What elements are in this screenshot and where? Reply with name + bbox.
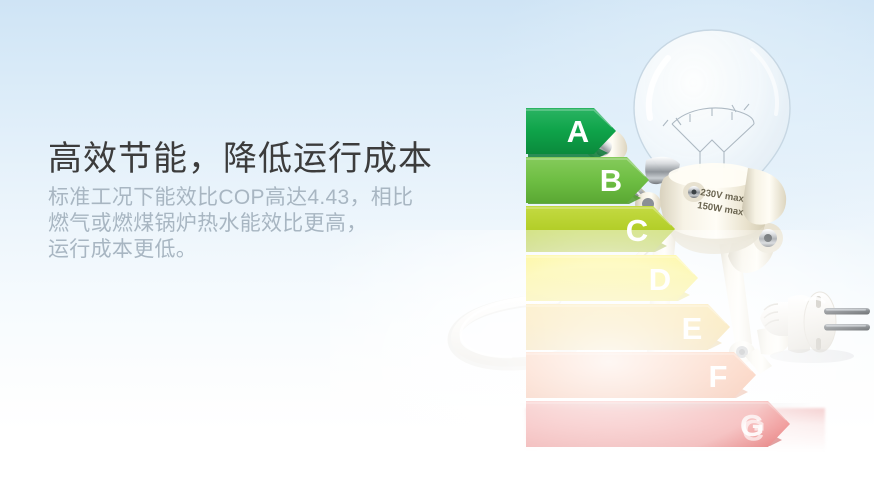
bar-contact-shadow — [520, 403, 810, 412]
lamp-arm-right — [728, 215, 783, 273]
svg-text:C: C — [626, 213, 648, 248]
background-glow-top — [480, 0, 874, 230]
svg-text:A: A — [567, 114, 589, 149]
energy-bar-B[interactable]: B — [526, 157, 649, 204]
svg-text:G: G — [740, 408, 764, 443]
page-title: 高效节能，降低运行成本 — [48, 137, 508, 181]
subcopy-line-2: 燃气或燃煤锅炉热水能效比更高， — [48, 211, 508, 237]
lamp-joint-lower — [745, 328, 791, 374]
socket-label-line2: 150W max — [697, 200, 745, 218]
energy-bar-F[interactable]: F — [526, 352, 756, 398]
energy-bar-E[interactable]: E — [526, 304, 730, 350]
subcopy-line-3: 运行成本更低。 — [48, 237, 508, 263]
reflection-letter-g: G — [742, 412, 765, 446]
lamp-socket: 230V max 150W max — [645, 157, 786, 254]
energy-bar-A[interactable]: A — [526, 108, 616, 159]
energy-bar-D[interactable]: D — [526, 255, 698, 301]
bar-reflection — [525, 408, 825, 468]
lamp-legs — [646, 232, 755, 375]
banner-subcopy: 标准工况下能效比COP高达4.43，相比 燃气或燃煤锅炉热水能效比更高， 运行成… — [48, 185, 508, 263]
lamp-arm-left — [546, 118, 661, 216]
light-bulb — [634, 30, 790, 214]
energy-bar-C[interactable]: C — [526, 206, 675, 252]
svg-text:F: F — [709, 359, 728, 394]
svg-text:D: D — [649, 262, 671, 297]
svg-text:B: B — [600, 163, 622, 198]
banner-text-block: 高效节能，降低运行成本 标准工况下能效比COP高达4.43，相比 燃气或燃煤锅炉… — [48, 137, 508, 263]
background-glow — [330, 230, 874, 480]
energy-efficiency-banner: 230V max 150W max — [0, 0, 874, 480]
subcopy-line-1: 标准工况下能效比COP高达4.43，相比 — [48, 185, 508, 211]
svg-text:E: E — [682, 311, 703, 346]
lamp-rod-lower-left — [615, 235, 660, 280]
energy-bar-G[interactable]: G — [526, 401, 790, 447]
power-cable-loop — [453, 296, 572, 365]
power-plug — [760, 292, 870, 363]
socket-label-line1: 230V max — [700, 187, 746, 205]
